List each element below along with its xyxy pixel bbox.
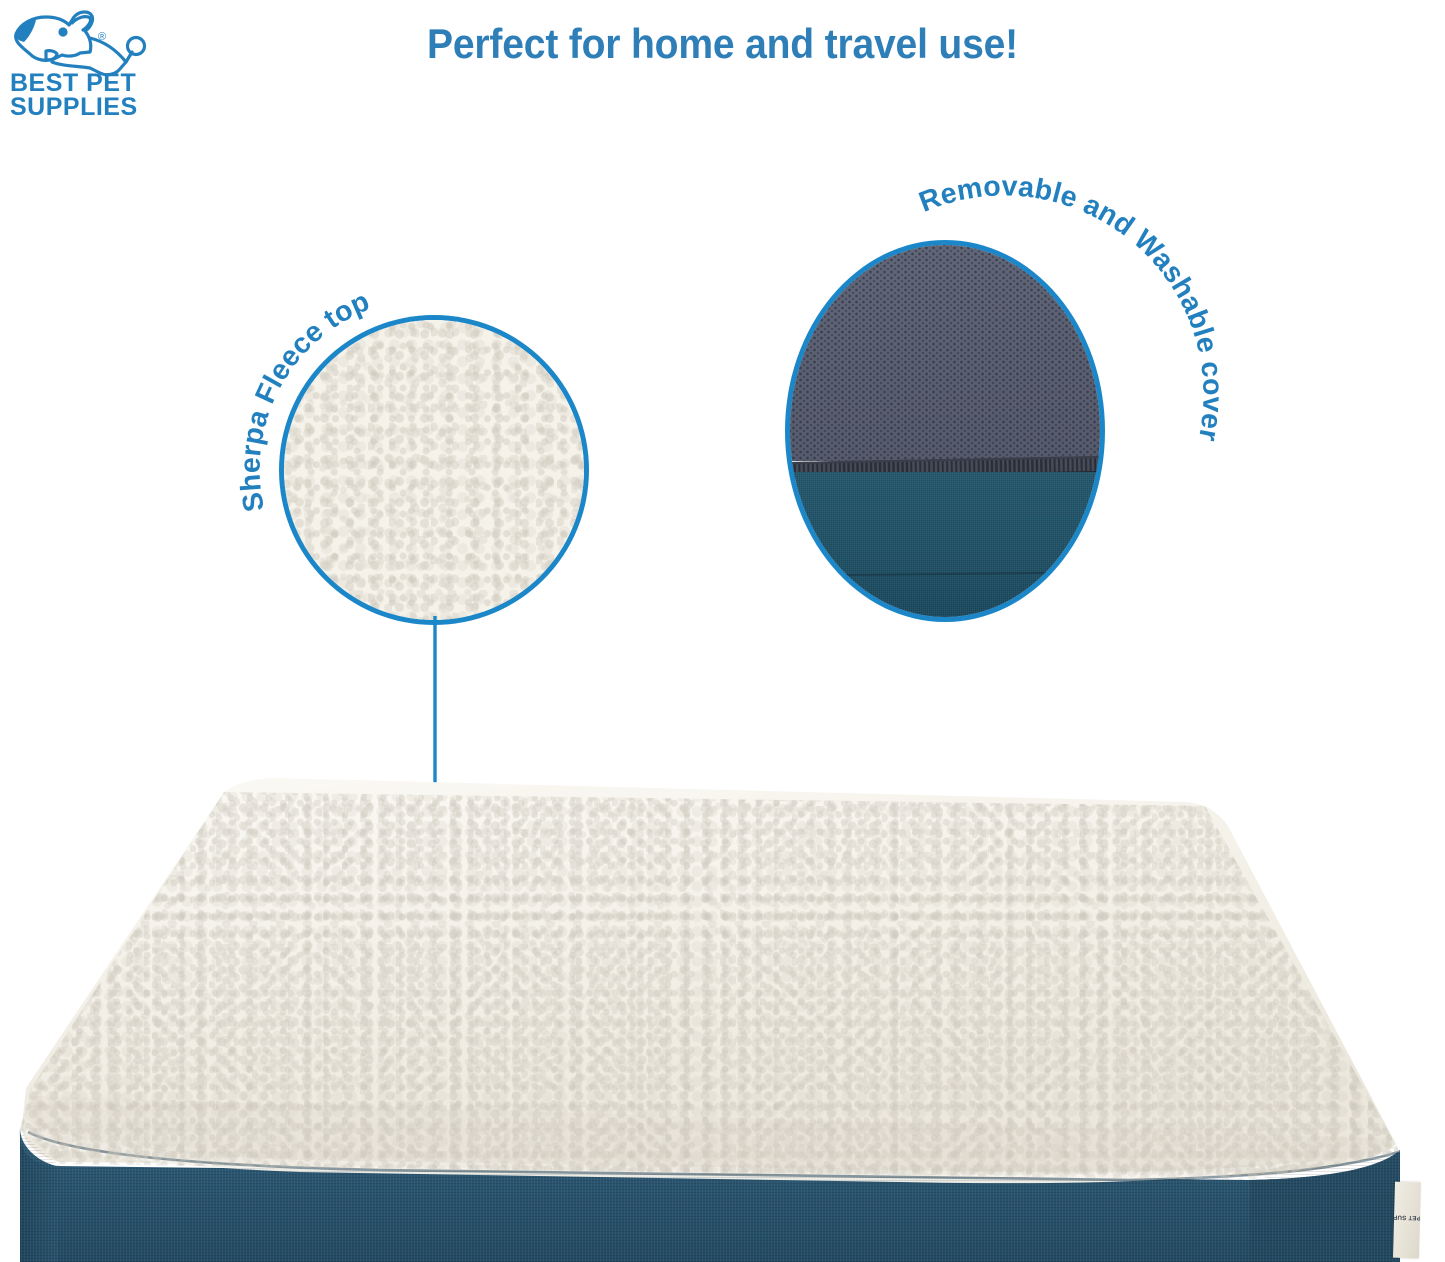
product-image-dog-bed xyxy=(0,760,1445,1262)
svg-text:Removable and Washable cover: Removable and Washable cover xyxy=(915,170,1229,444)
product-brand-tag: BEST PET SUPPLIES xyxy=(1393,1182,1421,1259)
page-title: Perfect for home and travel use! xyxy=(51,20,1395,68)
callout-removable-washable-cover: Removable and Washable cover xyxy=(790,245,1100,617)
product-infographic: ® BEST PET SUPPLIES Perfect for home and… xyxy=(0,0,1445,1262)
callout-sherpa-fleece-top: Sherpa Fleece top xyxy=(284,320,584,620)
callout-label-arc-fleece: Sherpa Fleece top xyxy=(284,320,584,620)
svg-text:Sherpa Fleece top: Sherpa Fleece top xyxy=(234,285,374,514)
callout-label-arc-cover: Removable and Washable cover xyxy=(790,245,1100,617)
product-brand-tag-text: BEST PET SUPPLIES xyxy=(1393,1212,1421,1221)
brand-name-line2: SUPPLIES xyxy=(10,93,138,121)
callout-label-fleece: Sherpa Fleece top xyxy=(234,285,374,514)
callout-label-cover: Removable and Washable cover xyxy=(915,170,1229,444)
